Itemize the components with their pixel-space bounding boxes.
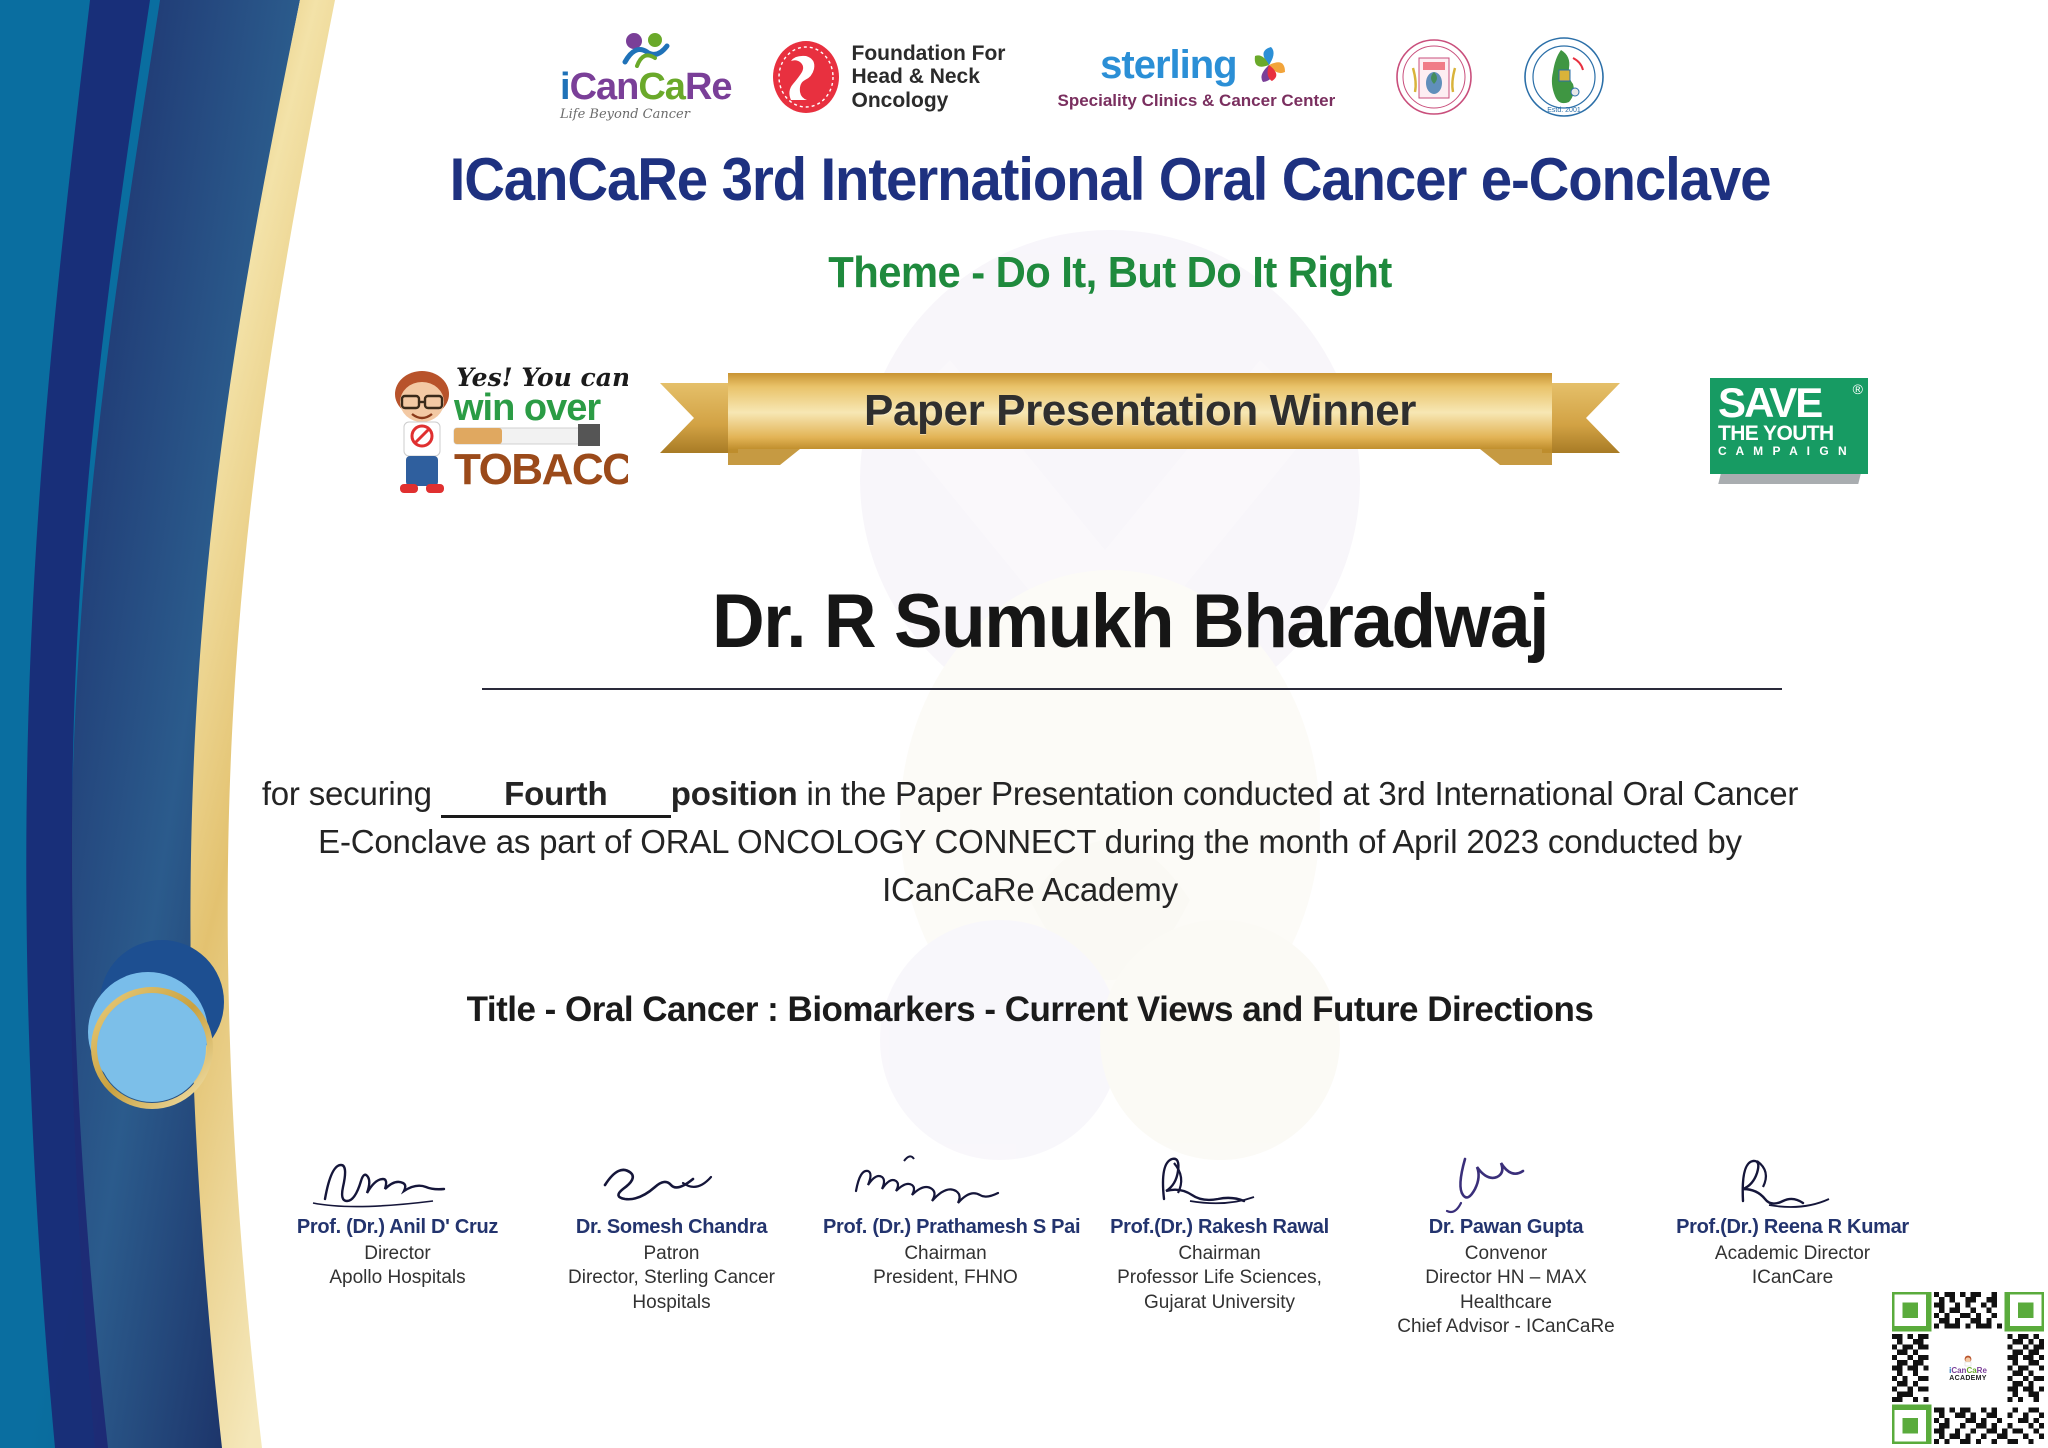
signatory-role-line: Chairman <box>823 1242 1068 1266</box>
signatory-role-line: Apollo Hospitals <box>275 1266 520 1290</box>
save-line-2: THE YOUTH <box>1718 423 1860 444</box>
fhno-text-block: Foundation For Head & Neck Oncology <box>852 42 1006 113</box>
page-title: ICanCaRe 3rd International Oral Cancer e… <box>311 145 1909 214</box>
qr-icancare-wordmark: iCanCaRe <box>1949 1367 1987 1375</box>
fhno-logo: Foundation For Head & Neck Oncology <box>770 39 1006 115</box>
save-registered-mark: ® <box>1853 381 1863 397</box>
icancare-part-i: i <box>560 66 570 108</box>
citation-paragraph: for securing Fourthposition in the Paper… <box>250 770 1810 915</box>
signatory-role-2: Patron Director, Sterling Cancer Hospita… <box>549 1242 794 1315</box>
icancare-wordmark: iCanCaRe <box>560 68 732 106</box>
award-banner: Paper Presentation Winner <box>660 365 1620 470</box>
signatory-role-line: Director, Sterling Cancer <box>549 1266 794 1290</box>
award-banner-label: Paper Presentation Winner <box>660 373 1620 449</box>
save-the-youth-logo: ® SAVE THE YOUTH C A M P A I G N <box>1710 378 1880 486</box>
signatory-name-6: Prof.(Dr.) Reena R Kumar <box>1670 1215 1915 1239</box>
signatory-block-2: Dr. Somesh Chandra Patron Director, Ster… <box>549 1130 794 1315</box>
signatory-role-line: ICanCare <box>1670 1266 1915 1290</box>
sterling-logo: sterling Speciality Clinics & Cancer Cen… <box>1057 43 1335 111</box>
signatory-block-6: Prof.(Dr.) Reena R Kumar Academic Direct… <box>1670 1130 1915 1291</box>
signatory-role-line: Patron <box>549 1242 794 1266</box>
sterling-pinwheel-icon <box>1245 43 1293 87</box>
conference-theme: Theme - Do It, But Do It Right <box>303 248 1918 298</box>
telemedicine-estd-label: Estd. 2001 <box>1548 107 1582 114</box>
signatory-block-5: Dr. Pawan Gupta Convenor Director HN – M… <box>1371 1130 1641 1339</box>
certificate-page: iCanCaRe Life Beyond Cancer Foundation F… <box>0 0 2048 1448</box>
paper-title: Title - Oral Cancer : Biomarkers - Curre… <box>300 990 1760 1030</box>
signatory-role-1: Director Apollo Hospitals <box>275 1242 520 1291</box>
signature-ink-1 <box>275 1130 520 1215</box>
ornament-circle-light <box>98 994 206 1102</box>
signatory-role-line: Hospitals <box>549 1291 794 1315</box>
signatory-role-line: Professor Life Sciences, <box>1097 1266 1342 1290</box>
handwritten-signature-icon <box>303 1143 493 1215</box>
signatory-role-line: Chairman <box>1097 1242 1342 1266</box>
signatory-role-line: Healthcare <box>1371 1291 1641 1315</box>
recipient-name-rule <box>482 688 1782 690</box>
signatory-role-line: Gujarat University <box>1097 1291 1342 1315</box>
signature-ink-4 <box>1097 1130 1342 1215</box>
signatory-name-1: Prof. (Dr.) Anil D' Cruz <box>275 1215 520 1239</box>
signatory-block-1: Prof. (Dr.) Anil D' Cruz Director Apollo… <box>275 1130 520 1291</box>
qr-center-logo: iCanCaRe ACADEMY <box>1941 1346 1995 1390</box>
qr-academy-label: ACADEMY <box>1949 1375 1987 1382</box>
signatory-role-5: Convenor Director HN – MAX Healthcare Ch… <box>1371 1242 1641 1339</box>
save-line-1: SAVE <box>1718 384 1860 423</box>
sterling-wordmark: sterling <box>1100 45 1236 85</box>
background-watermark <box>700 180 1520 1230</box>
handwritten-signature-icon <box>846 1143 1046 1215</box>
recipient-name: Dr. R Sumukh Bharadwaj <box>506 578 1754 665</box>
sterling-subtitle: Speciality Clinics & Cancer Center <box>1057 91 1335 111</box>
handwritten-signature-icon <box>1431 1143 1581 1215</box>
signatory-role-line: Director <box>275 1242 520 1266</box>
telemedicine-society-icon: Estd. 2001 <box>1523 36 1605 118</box>
signature-ink-6 <box>1670 1130 1915 1215</box>
mascot-boy-icon <box>395 371 449 493</box>
signature-ink-2 <box>549 1130 794 1215</box>
tobacco-line-2: win over <box>453 387 601 429</box>
icancare-tagline: Life Beyond Cancer <box>560 107 732 122</box>
ornament-circle-dark <box>100 940 224 1064</box>
handwritten-signature-icon <box>587 1143 757 1215</box>
win-over-tobacco-logo: Yes! You can... win over TOBACCO <box>378 358 628 506</box>
handwritten-signature-icon <box>1713 1143 1873 1215</box>
tobacco-line-3: TOBACCO <box>454 445 628 494</box>
signatory-name-5: Dr. Pawan Gupta <box>1371 1215 1641 1239</box>
signatory-name-4: Prof.(Dr.) Rakesh Rawal <box>1097 1215 1342 1239</box>
signatory-name-2: Dr. Somesh Chandra <box>549 1215 794 1239</box>
partner-logo-row: iCanCaRe Life Beyond Cancer Foundation F… <box>560 22 1920 132</box>
signatory-role-3: Chairman President, FHNO <box>823 1242 1068 1291</box>
ornament-gold-ring <box>94 990 210 1106</box>
signature-ink-5 <box>1371 1130 1641 1215</box>
qr-code[interactable]: iCanCaRe ACADEMY <box>1892 1292 2044 1444</box>
signatory-role-line: Academic Director <box>1670 1242 1915 1266</box>
signatory-block-4: Prof.(Dr.) Rakesh Rawal Chairman Profess… <box>1097 1130 1342 1315</box>
icancare-part-re: Re <box>685 66 732 108</box>
signature-ink-3 <box>823 1130 1068 1215</box>
signatory-role-6: Academic Director ICanCare <box>1670 1242 1915 1291</box>
fhno-line-2: Head & Neck <box>852 65 1006 89</box>
fhno-seal-icon <box>770 39 842 115</box>
ornament-circle-mid <box>88 972 208 1092</box>
signatory-role-line: Chief Advisor - ICanCaRe <box>1371 1315 1641 1339</box>
icancare-mark-icon <box>617 32 675 68</box>
icancare-part-ca: Ca <box>638 66 685 108</box>
telemedicine-society-logo: Estd. 2001 <box>1523 36 1605 118</box>
signatory-role-line: Director HN – MAX <box>1371 1266 1641 1290</box>
citation-position-word: position <box>671 775 798 812</box>
signatory-role-line: Convenor <box>1371 1242 1641 1266</box>
signatory-role-line: President, FHNO <box>823 1266 1068 1290</box>
save-line-3: C A M P A I G N <box>1718 444 1860 460</box>
signatory-name-3: Prof. (Dr.) Prathamesh S Pai <box>823 1215 1068 1239</box>
signatory-block-3: Prof. (Dr.) Prathamesh S Pai Chairman Pr… <box>823 1130 1068 1291</box>
government-seal-icon <box>1395 38 1473 116</box>
icancare-logo: iCanCaRe Life Beyond Cancer <box>560 32 732 122</box>
icancare-part-can: Can <box>570 66 639 108</box>
handwritten-signature-icon <box>1130 1143 1310 1215</box>
save-logo-box: ® SAVE THE YOUTH C A M P A I G N <box>1710 378 1868 474</box>
fhno-line-1: Foundation For <box>852 42 1006 66</box>
signature-row: Prof. (Dr.) Anil D' Cruz Director Apollo… <box>275 1130 1915 1339</box>
rajasthan-seal-logo <box>1395 38 1473 116</box>
fhno-line-3: Oncology <box>852 89 1006 113</box>
citation-lead: for securing <box>262 775 432 812</box>
position-blank-field: Fourth <box>441 775 671 818</box>
signatory-role-4: Chairman Professor Life Sciences, Gujara… <box>1097 1242 1342 1315</box>
